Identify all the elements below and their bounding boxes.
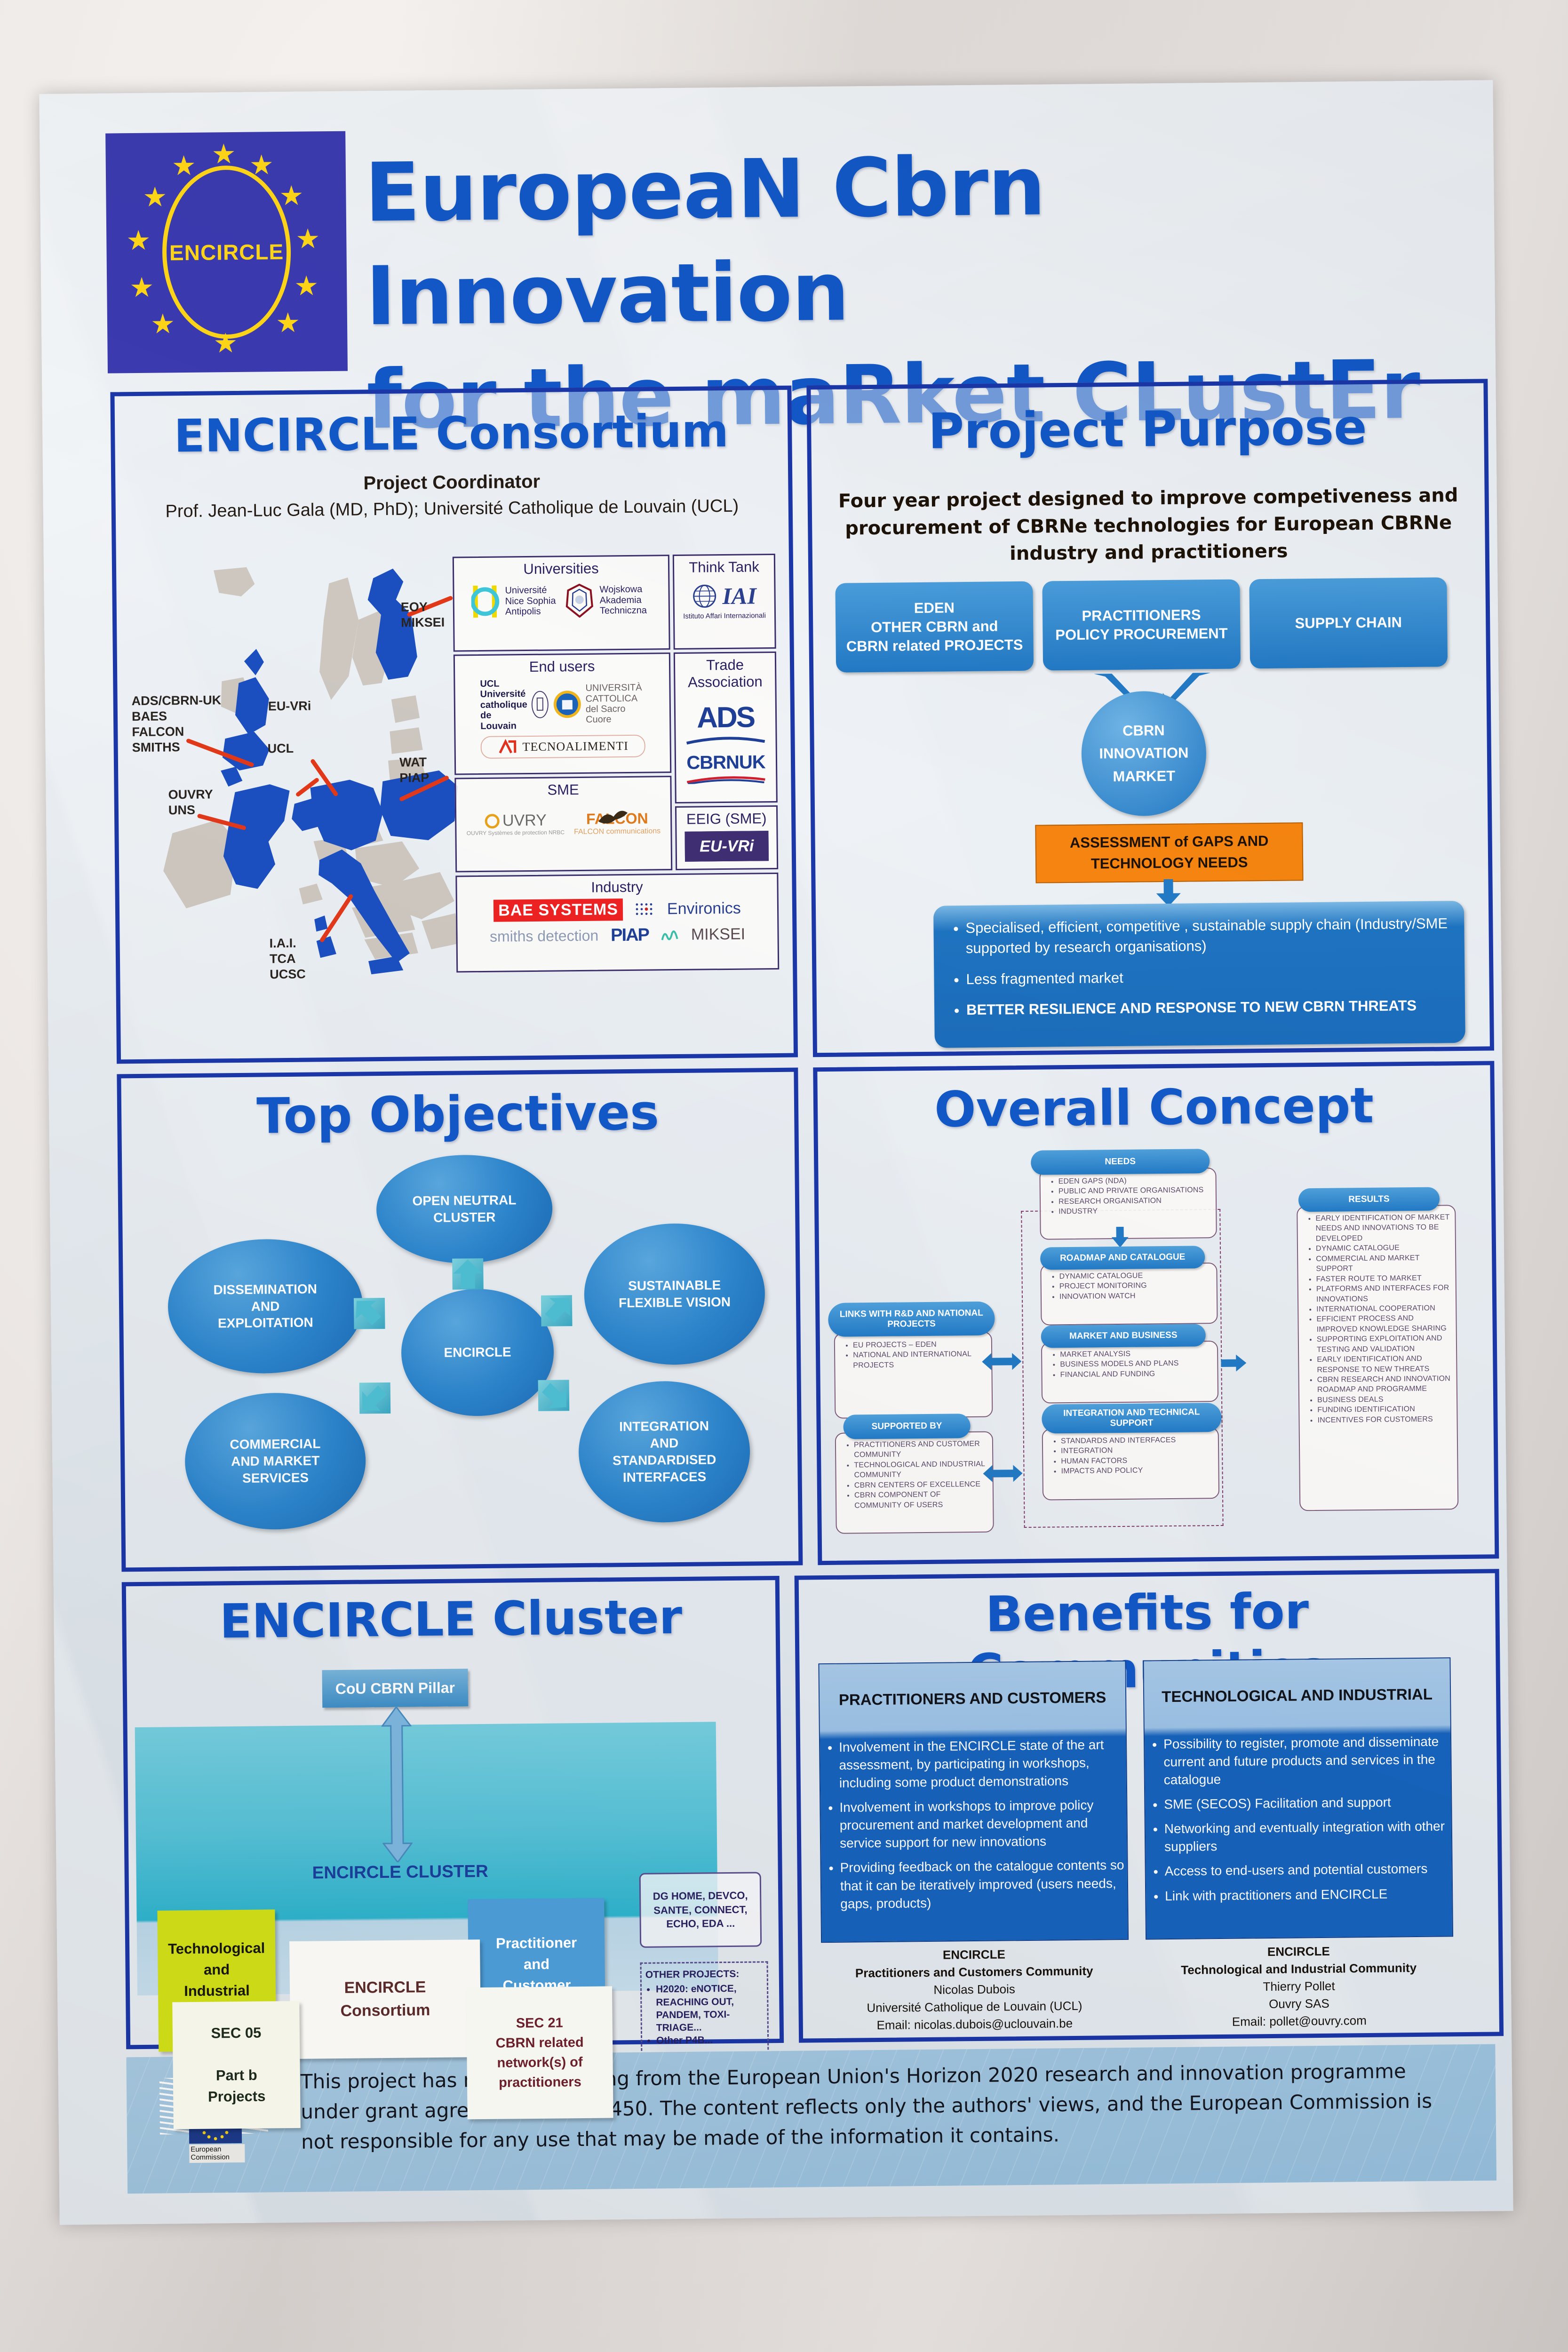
arrow-left-right-icon bbox=[982, 1352, 1021, 1371]
panel-overall-concept: Overall Concept NEEDS EDEN GAPS (NDA) PU… bbox=[813, 1061, 1499, 1565]
ads-wordmark: ADS bbox=[697, 701, 755, 734]
contact-name: Nicolas Dubois bbox=[821, 1979, 1127, 2000]
other-projects-list: H2020: eNOTICE, REACHING OUT, PANDEM, TO… bbox=[645, 1982, 764, 2048]
miksei-wave-icon bbox=[661, 927, 679, 942]
arrow-up-down-icon bbox=[381, 1707, 413, 1863]
cbrnuk-wordmark: CBRNUK bbox=[686, 752, 765, 773]
eu-star-icon: ★ bbox=[126, 227, 151, 254]
arrow-down-icon bbox=[1111, 1227, 1130, 1248]
objective-dissemination: DISSEMINATION AND EXPLOITATION bbox=[167, 1238, 364, 1374]
ucl-crest-icon bbox=[531, 691, 549, 719]
map-label: EOYMIKSEI bbox=[401, 599, 445, 631]
supported-item: CBRN COMPONENT OF COMMUNITY OF USERS bbox=[854, 1489, 988, 1511]
cluster-sec21-box: SEC 21 CBRN related network(s) of practi… bbox=[466, 1986, 613, 2119]
benefits-right-heading: TECHNOLOGICAL AND INDUSTRIAL bbox=[1144, 1658, 1450, 1732]
links-heading: LINKS WITH R&D AND NATIONAL PROJECTS bbox=[828, 1302, 995, 1337]
integration-heading: INTEGRATION AND TECHNICAL SUPPORT bbox=[1042, 1403, 1222, 1434]
integration-item: IMPACTS AND POLICY bbox=[1061, 1465, 1213, 1477]
ads-swoosh-icon bbox=[685, 734, 765, 745]
panel-consortium: ENCIRCLE Consortium Project Coordinator … bbox=[110, 386, 798, 1064]
group-caption: EEIG (SME) bbox=[677, 810, 776, 828]
results-item: INTERNATIONAL COOPERATION bbox=[1316, 1303, 1451, 1314]
logo-text: UCL Université catholique de Louvain bbox=[480, 678, 527, 731]
map-label: ADS/CBRN-UKBAESFALCONSMITHS bbox=[132, 692, 222, 755]
needs-list: EDEN GAPS (NDA) PUBLIC AND PRIVATE ORGAN… bbox=[1046, 1175, 1211, 1217]
results-item: DYNAMIC CATALOGUE bbox=[1316, 1243, 1450, 1254]
purpose-box-supply-chain: SUPPLY CHAIN bbox=[1249, 577, 1448, 668]
ouvry-ring-icon bbox=[484, 813, 500, 829]
contact-org: ENCIRCLE bbox=[1146, 1941, 1451, 1962]
benefit-item: SME (SECOS) Facilitation and support bbox=[1164, 1793, 1451, 1814]
roadmap-item: PROJECT MONITORING bbox=[1059, 1280, 1212, 1292]
group-sme: SME UVRY OUVRY Systèmes de protection NR… bbox=[454, 776, 672, 872]
results-heading: RESULTS bbox=[1298, 1187, 1440, 1212]
supported-list: PRACTITIONERS AND CUSTOMER COMMUNITY TEC… bbox=[842, 1439, 988, 1511]
logo-text: Université Nice Sophia Antipolis bbox=[505, 585, 559, 617]
benefits-right-list: Possibility to register, promote and dis… bbox=[1145, 1732, 1452, 1905]
eu-star-icon: ★ bbox=[279, 183, 304, 210]
eu-star-icon: ★ bbox=[129, 274, 154, 302]
map-label: EU-VRi bbox=[268, 698, 311, 714]
smiths-wordmark: smiths detection bbox=[490, 929, 598, 944]
group-universities: Universities Université Nice Sophia Anti… bbox=[453, 555, 670, 652]
logo-text: Wojskowa Akademia Techniczna bbox=[599, 584, 652, 616]
eu-star-icon: ★ bbox=[211, 141, 236, 168]
map-label: WATPIAP bbox=[399, 755, 430, 786]
tecnoalimenti-mark-icon bbox=[497, 739, 517, 755]
roadmap-list: DYNAMIC CATALOGUE PROJECT MONITORING INN… bbox=[1047, 1270, 1212, 1302]
roadmap-heading: ROADMAP AND CATALOGUE bbox=[1040, 1246, 1205, 1270]
group-trade-association: Trade Association ADS CBRNUK bbox=[674, 652, 778, 803]
purpose-box-eden: EDEN OTHER CBRN and CBRN related PROJECT… bbox=[835, 581, 1034, 673]
needs-heading: NEEDS bbox=[1031, 1149, 1210, 1175]
supported-item: CBRN CENTERS OF EXCELLENCE bbox=[854, 1479, 988, 1490]
eu-star-icon: ★ bbox=[295, 225, 320, 253]
contact-name: Thierry Pollet bbox=[1146, 1976, 1452, 1996]
benefits-column-technological: TECHNOLOGICAL AND INDUSTRIAL Possibility… bbox=[1143, 1657, 1453, 1939]
arrow-right-icon bbox=[1221, 1353, 1246, 1373]
group-think-tank: Think Tank IAI Istituto Affari Internazi… bbox=[673, 554, 776, 650]
integration-item: INTEGRATION bbox=[1061, 1445, 1213, 1457]
contact-email[interactable]: Email: nicolas.dubois@uclouvain.be bbox=[822, 2014, 1128, 2034]
results-item: EARLY IDENTIFICATION AND RESPONSE TO NEW… bbox=[1317, 1353, 1451, 1375]
eu-star-icon: ★ bbox=[151, 310, 175, 338]
contact-org: ENCIRCLE bbox=[821, 1945, 1127, 1965]
arrow-down-icon bbox=[1155, 879, 1182, 907]
map-label: OUVRYUNS bbox=[168, 787, 213, 818]
integration-item: STANDARDS AND INTERFACES bbox=[1061, 1435, 1213, 1446]
needs-item: RESEARCH ORGANISATION bbox=[1059, 1195, 1211, 1207]
group-caption: SME bbox=[456, 780, 670, 799]
contact-right: ENCIRCLE Technological and Industrial Co… bbox=[1146, 1941, 1452, 2031]
links-box: EU PROJECTS – EDEN NATIONAL AND INTERNAT… bbox=[834, 1332, 993, 1419]
map-label: UCL bbox=[268, 741, 294, 756]
benefits-left-list: Involvement in the ENCIRCLE state of the… bbox=[820, 1736, 1128, 1913]
results-item: EARLY IDENTIFICATION OF MARKET NEEDS AND… bbox=[1315, 1212, 1450, 1244]
eu-star-icon: ★ bbox=[172, 152, 197, 180]
panel-benefits: Benefits for Communities PRACTITIONERS A… bbox=[795, 1569, 1504, 2042]
benefit-item: Providing feedback on the catalogue cont… bbox=[840, 1856, 1127, 1913]
eu-star-icon: ★ bbox=[276, 310, 301, 337]
logo-text: UNIVERSITÀ CATTOLICA del Sacro Cuore bbox=[585, 683, 645, 725]
map-label: I.A.I.TCAUCSC bbox=[270, 936, 306, 983]
group-end-users: End users UCL Université catholique de L… bbox=[454, 652, 671, 775]
benefit-item: Possibility to register, promote and dis… bbox=[1163, 1732, 1451, 1789]
objectives-title: Top Objectives bbox=[121, 1082, 795, 1146]
results-box: EARLY IDENTIFICATION OF MARKET NEEDS AND… bbox=[1297, 1205, 1458, 1511]
funding-footer: European Commission This project has rec… bbox=[126, 2044, 1496, 2193]
purpose-lead: Four year project designed to improve co… bbox=[830, 482, 1466, 570]
benefits-column-practitioners: PRACTITIONERS AND CUSTOMERS Involvement … bbox=[818, 1661, 1129, 1943]
panel-project-purpose: Project Purpose Four year project design… bbox=[806, 379, 1494, 1057]
market-box: MARKET ANALYSIS BUSINESS MODELS AND PLAN… bbox=[1041, 1341, 1218, 1404]
bae-wordmark: BAE SYSTEMS bbox=[493, 898, 623, 922]
environics-dots-icon bbox=[634, 901, 656, 917]
contact-affil: Université Catholique de Louvain (UCL) bbox=[821, 1997, 1127, 2017]
benefits-left-heading: PRACTITIONERS AND CUSTOMERS bbox=[819, 1661, 1125, 1736]
benefit-item: Involvement in the ENCIRCLE state of the… bbox=[839, 1736, 1126, 1792]
panel-encircle-cluster: ENCIRCLE Cluster CoU CBRN Pillar ENCIRCL… bbox=[122, 1576, 784, 2049]
consortium-title: ENCIRCLE Consortium bbox=[115, 404, 788, 463]
purpose-outcomes-list: Specialised, efficient, competitive , su… bbox=[949, 913, 1449, 1020]
market-list: MARKET ANALYSIS BUSINESS MODELS AND PLAN… bbox=[1048, 1348, 1213, 1380]
partner-logo-grid: Universities Université Nice Sophia Anti… bbox=[453, 554, 777, 1046]
needs-item: INDUSTRY bbox=[1059, 1205, 1211, 1217]
coordinator-name: Prof. Jean-Luc Gala (MD, PhD); Universit… bbox=[116, 496, 788, 523]
integration-list: STANDARDS AND INTERFACES INTEGRATION HUM… bbox=[1049, 1435, 1214, 1477]
market-item: FINANCIAL AND FUNDING bbox=[1060, 1368, 1212, 1380]
chevron-down-left-icon bbox=[359, 1383, 391, 1414]
concept-title: Overall Concept bbox=[818, 1075, 1491, 1139]
group-caption: Think Tank bbox=[674, 558, 774, 576]
falcon-bird-icon bbox=[597, 807, 629, 829]
objective-sustainable-vision: SUSTAINABLE FLEXIBLE VISION bbox=[583, 1223, 765, 1366]
links-list: EU PROJECTS – EDEN NATIONAL AND INTERNAT… bbox=[841, 1339, 987, 1371]
roadmap-item: DYNAMIC CATALOGUE bbox=[1059, 1270, 1211, 1282]
results-item: INCENTIVES FOR CUSTOMERS bbox=[1317, 1414, 1452, 1425]
results-item: COMMERCIAL AND MARKET SUPPORT bbox=[1316, 1253, 1450, 1274]
group-caption: End users bbox=[455, 657, 669, 676]
purpose-circle-market: CBRN INNOVATION MARKET bbox=[1081, 691, 1207, 817]
objective-center-encircle: ENCIRCLE bbox=[401, 1288, 555, 1417]
contact-affil: Ouvry SAS bbox=[1146, 1994, 1452, 2014]
results-item: CBRN RESEARCH AND INNOVATION ROADMAP AND… bbox=[1317, 1374, 1452, 1395]
benefit-item: Link with practitioners and ENCIRCLE bbox=[1165, 1884, 1452, 1905]
other-project-item: H2020: eNOTICE, REACHING OUT, PANDEM, TO… bbox=[656, 1982, 764, 2034]
integration-item: HUMAN FACTORS bbox=[1061, 1455, 1213, 1467]
objective-open-neutral-cluster: OPEN NEUTRAL CLUSTER bbox=[376, 1154, 553, 1264]
logo-text: OUVRY Systèmes de protection NRBC bbox=[467, 830, 565, 837]
outcome-item: BETTER RESILIENCE AND RESPONSE TO NEW CB… bbox=[966, 995, 1449, 1020]
eu-star-icon: ★ bbox=[249, 151, 274, 179]
supported-heading: SUPPORTED BY bbox=[843, 1414, 970, 1439]
results-item: FASTER ROUTE TO MARKET bbox=[1316, 1273, 1451, 1284]
outcome-item: Specialised, efficient, competitive , su… bbox=[965, 913, 1449, 959]
benefit-item: Networking and eventually integration wi… bbox=[1164, 1818, 1452, 1856]
group-caption: Trade Association bbox=[675, 656, 775, 691]
cluster-dg-box: DG HOME, DEVCO, SANTE, CONNECT, ECHO, ED… bbox=[639, 1872, 762, 1947]
conference-poster: ENCIRCLE ★ ★ ★ ★ ★ ★ ★ ★ ★ ★ ★ ★ Europea… bbox=[39, 80, 1513, 2225]
arrow-left-right-icon bbox=[983, 1464, 1022, 1483]
contact-email[interactable]: Email: pollet@ouvry.com bbox=[1146, 2011, 1452, 2031]
poster-header: ENCIRCLE ★ ★ ★ ★ ★ ★ ★ ★ ★ ★ ★ ★ Europea… bbox=[63, 106, 1467, 383]
purpose-box-practitioners: PRACTITIONERS POLICY PROCUREMENT bbox=[1042, 579, 1241, 670]
encircle-logo: ENCIRCLE ★ ★ ★ ★ ★ ★ ★ ★ ★ ★ ★ ★ bbox=[105, 131, 348, 373]
benefit-item: Involvement in workshops to improve poli… bbox=[839, 1796, 1127, 1852]
contact-community: Technological and Industrial Community bbox=[1146, 1959, 1452, 1979]
cattolica-seal-icon bbox=[553, 690, 582, 719]
market-item: MARKET ANALYSIS bbox=[1060, 1348, 1212, 1360]
roadmap-box: DYNAMIC CATALOGUE PROJECT MONITORING INN… bbox=[1040, 1263, 1218, 1326]
logo-text: Istituto Affari Internazionali bbox=[675, 612, 774, 621]
results-list: EARLY IDENTIFICATION OF MARKET NEEDS AND… bbox=[1303, 1212, 1452, 1425]
encircle-cluster-label: ENCIRCLE CLUSTER bbox=[312, 1861, 488, 1883]
outcome-item: Less fragmented market bbox=[966, 964, 1449, 989]
iai-globe-icon bbox=[692, 584, 716, 608]
title-line-1: EuropeaN Cbrn Innovation bbox=[364, 131, 1448, 348]
results-item: EFFICIENT PROCESS AND IMPROVED KNOWLEDGE… bbox=[1316, 1313, 1451, 1335]
needs-item: PUBLIC AND PRIVATE ORGANISATIONS bbox=[1059, 1185, 1211, 1197]
objective-integration-interfaces: INTEGRATION AND STANDARDISED INTERFACES bbox=[578, 1381, 751, 1523]
eu-star-icon: ★ bbox=[294, 272, 319, 300]
results-item: PLATFORMS AND INTERFACES FOR INNOVATIONS bbox=[1316, 1283, 1451, 1304]
uns-logo-icon bbox=[471, 583, 500, 621]
results-item: BUSINESS DEALS bbox=[1317, 1394, 1452, 1405]
logo-text: TECNOALIMENTI bbox=[522, 739, 629, 754]
purpose-orange-assessment: ASSESSMENT of GAPS AND TECHNOLOGY NEEDS bbox=[1035, 822, 1303, 883]
chevron-up-left-icon bbox=[354, 1298, 385, 1329]
wat-logo-icon bbox=[565, 584, 594, 618]
links-item: EU PROJECTS – EDEN bbox=[853, 1339, 987, 1351]
supported-item: PRACTITIONERS AND CUSTOMER COMMUNITY bbox=[854, 1439, 987, 1461]
coordinator-label: Project Coordinator bbox=[115, 469, 788, 497]
other-project-item: Other P4B... bbox=[656, 2034, 764, 2047]
cluster-sec05-box: SEC 05 Part b Projects bbox=[172, 2001, 301, 2130]
needs-item: EDEN GAPS (NDA) bbox=[1059, 1175, 1211, 1187]
ec-caption: European Commission bbox=[189, 2144, 245, 2163]
roadmap-item: INNOVATION WATCH bbox=[1059, 1290, 1212, 1302]
group-eeig: EEIG (SME) EU-VRi bbox=[675, 805, 778, 870]
euvri-wordmark: EU-VRi bbox=[700, 837, 754, 856]
environics-wordmark: Environics bbox=[667, 899, 741, 919]
supported-item: TECHNOLOGICAL AND INDUSTRIAL COMMUNITY bbox=[854, 1459, 987, 1481]
group-industry: Industry BAE SYSTEMS Environics smith bbox=[455, 873, 779, 973]
eu-star-icon: ★ bbox=[143, 183, 167, 211]
supported-box: PRACTITIONERS AND CUSTOMER COMMUNITY TEC… bbox=[835, 1431, 994, 1534]
group-caption: Industry bbox=[457, 877, 777, 898]
contact-left: ENCIRCLE Practitioners and Customers Com… bbox=[821, 1945, 1128, 2034]
chevron-down-right-icon bbox=[538, 1380, 570, 1411]
cluster-consortium-box: ENCIRCLE Consortium bbox=[289, 1939, 481, 2059]
cbrnuk-swoosh-icon bbox=[686, 773, 766, 784]
group-caption: Universities bbox=[454, 559, 668, 578]
piap-wordmark: PIAP bbox=[611, 925, 649, 946]
purpose-title: Project Purpose bbox=[811, 397, 1484, 461]
links-item: NATIONAL AND INTERNATIONAL PROJECTS bbox=[853, 1349, 987, 1371]
contact-community: Practitioners and Customers Community bbox=[821, 1962, 1127, 1982]
europe-map: EOYMIKSEI ADS/CBRN-UKBAESFALCONSMITHS EU… bbox=[127, 557, 461, 1036]
integration-box: STANDARDS AND INTERFACES INTEGRATION HUM… bbox=[1042, 1427, 1219, 1501]
results-item: FUNDING IDENTIFICATION bbox=[1317, 1404, 1452, 1415]
benefit-item: Access to end-users and potential custom… bbox=[1165, 1860, 1452, 1881]
eu-star-icon: ★ bbox=[213, 330, 238, 357]
purpose-outcomes-box: Specialised, efficient, competitive , su… bbox=[933, 901, 1465, 1048]
market-item: BUSINESS MODELS AND PLANS bbox=[1060, 1359, 1212, 1370]
miksei-wordmark: MIKSEI bbox=[691, 925, 746, 944]
objective-commercial-services: COMMERCIAL AND MARKET SERVICES bbox=[184, 1392, 366, 1530]
results-item: SUPPORTING EXPLOITATION AND TESTING AND … bbox=[1317, 1333, 1451, 1355]
other-projects-title: OTHER PROJECTS: bbox=[645, 1967, 763, 1981]
ouvry-wordmark: UVRY bbox=[502, 811, 547, 830]
cou-cbrn-pillar-box: CoU CBRN Pillar bbox=[322, 1669, 469, 1708]
logo-wordmark: ENCIRCLE bbox=[169, 239, 284, 265]
chevron-up-right-icon bbox=[541, 1295, 573, 1327]
chevron-up-icon bbox=[452, 1258, 484, 1290]
iai-wordmark: IAI bbox=[722, 582, 756, 610]
panel-top-objectives: Top Objectives OPEN NEUTRAL CLUSTER SUST… bbox=[117, 1068, 803, 1572]
cluster-title: ENCIRCLE Cluster bbox=[126, 1589, 776, 1650]
market-heading: MARKET AND BUSINESS bbox=[1041, 1324, 1206, 1348]
